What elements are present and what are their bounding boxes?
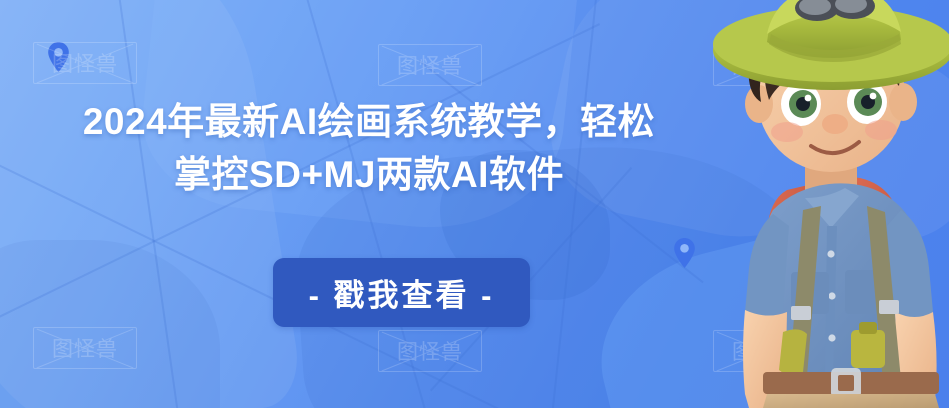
headline-text: 2024年最新AI绘画系统教学，轻松 掌控SD+MJ两款AI软件 bbox=[44, 96, 694, 201]
background-map-art bbox=[0, 0, 949, 408]
map-pin-icon bbox=[673, 238, 696, 268]
cta-button[interactable]: - 戳我查看 - bbox=[273, 258, 530, 327]
promo-poster: 2024年最新AI绘画系统教学，轻松 掌控SD+MJ两款AI软件 - 戳我查看 … bbox=[0, 0, 949, 408]
map-pin-icon bbox=[47, 42, 70, 72]
